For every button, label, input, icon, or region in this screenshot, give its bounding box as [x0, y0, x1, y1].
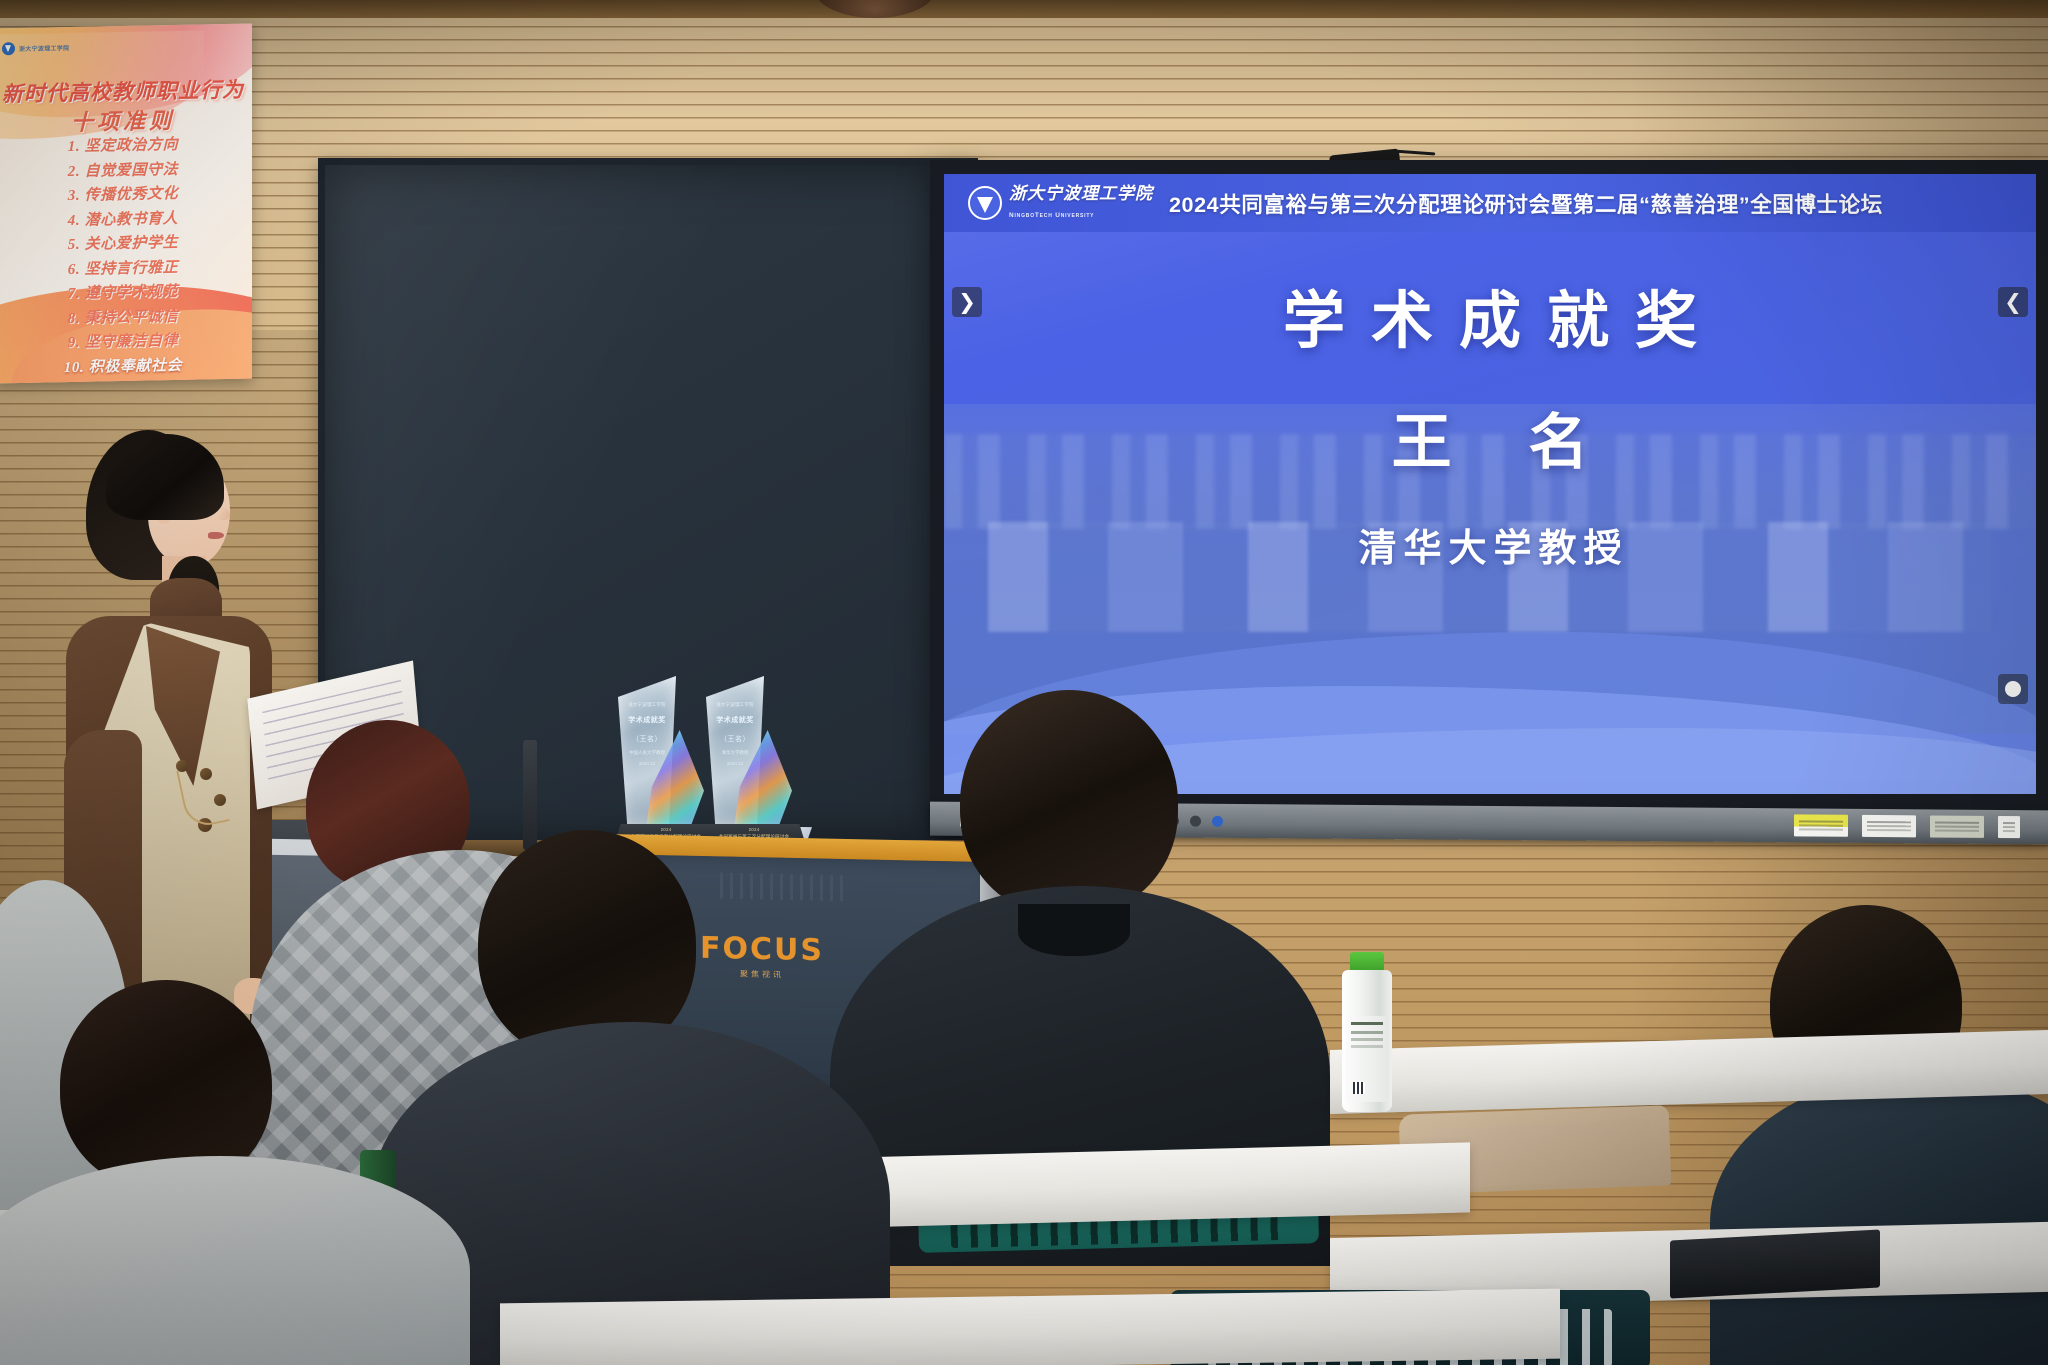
attendee-front-gray	[10, 980, 440, 1365]
slide-content: 学术成就奖 王 名 清华大学教授	[944, 270, 2036, 572]
attendee-shoulders	[0, 1156, 470, 1365]
record-button[interactable]	[1998, 674, 2028, 704]
trophy-org: 浙大宁波理工学院	[618, 702, 676, 708]
bezel-small-label	[1998, 816, 2020, 838]
bottle-cap-icon	[1350, 952, 1384, 972]
previous-slide-icon[interactable]: ❮	[1998, 287, 2028, 317]
trophy-award: 学术成就奖	[706, 715, 764, 725]
teacher-code-poster: 浙大宁波理工学院 新时代高校教师职业行为 十项准则 1. 坚定政治方向 2. 自…	[0, 24, 252, 384]
trophy-right: 浙大宁波理工学院 学术成就奖 （王名） 清华大学教授 2024.12 2024 …	[700, 620, 812, 852]
laptop-closed[interactable]	[1670, 1229, 1880, 1298]
toggle-bead	[198, 818, 212, 832]
trophy-affiliation: 清华大学教授	[706, 750, 764, 756]
poster-item-list: 1. 坚定政治方向 2. 自觉爱国守法 3. 传播优秀文化 4. 潜心教书育人 …	[0, 132, 252, 382]
toggle-bead	[200, 768, 212, 780]
next-slide-icon[interactable]: ❯	[952, 287, 982, 317]
poster-logo-text: 浙大宁波理工学院	[19, 43, 69, 53]
recipient-name: 王 名	[944, 394, 2036, 481]
bezel-yellow-label	[1794, 814, 1848, 836]
banner-university-logo: 浙大宁波理工学院 NingboTech University	[968, 185, 1153, 222]
attendee-collar	[1018, 904, 1130, 956]
water-bottle	[1342, 952, 1392, 1112]
attendee-shoulders	[1710, 1073, 2048, 1365]
bezel-spec-label	[1862, 815, 1916, 837]
presenter-toggle-fastener	[176, 760, 230, 832]
trophy-org: 浙大宁波理工学院	[706, 702, 764, 708]
record-dot-icon	[2005, 681, 2021, 697]
banner-university-cn: 浙大宁波理工学院	[1009, 184, 1153, 203]
conference-title: 2024共同富裕与第三次分配理论研讨会暨第二届“慈善治理”全国博士论坛	[1169, 188, 1883, 219]
bottle-label	[1346, 1016, 1388, 1102]
recipient-affiliation: 清华大学教授	[944, 517, 2036, 572]
qr-code-icon	[1353, 1082, 1365, 1094]
poster-logo: 浙大宁波理工学院	[2, 41, 69, 55]
university-mark-icon	[2, 42, 15, 55]
banner-university-en: NingboTech University	[1009, 212, 1094, 219]
slide-banner: 浙大宁波理工学院 NingboTech University 2024共同富裕与…	[944, 174, 2036, 232]
toggle-bead	[214, 794, 226, 806]
attendee-head	[960, 690, 1178, 916]
bottle-body	[1342, 970, 1392, 1112]
bezel-gray-label	[1930, 815, 1984, 837]
award-title: 学术成就奖	[944, 270, 2036, 360]
list-item: 10. 积极奉献社会	[0, 352, 252, 381]
trophy-recipient: （王名）	[706, 734, 764, 744]
toggle-bead	[176, 760, 188, 772]
university-seal-icon	[968, 186, 1002, 220]
classroom-scene: 浙大宁波理工学院 新时代高校教师职业行为 十项准则 1. 坚定政治方向 2. 自…	[0, 0, 2048, 1365]
